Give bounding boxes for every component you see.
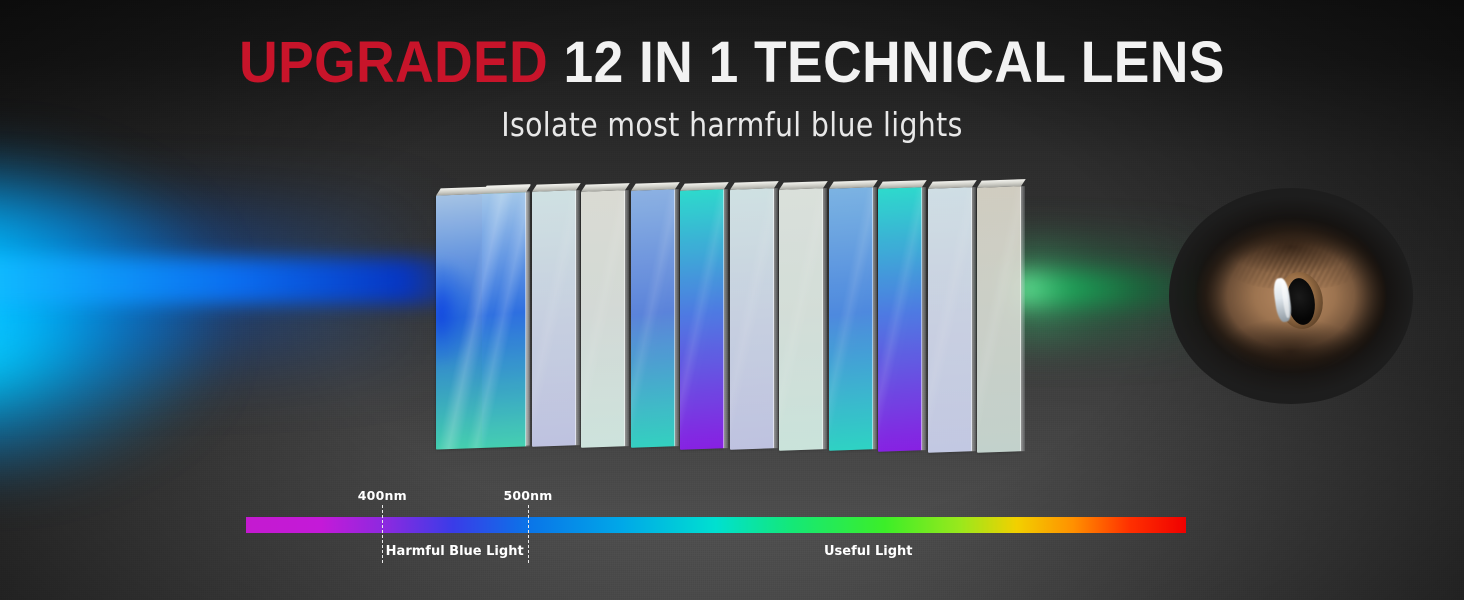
lens-panel-face [436, 192, 526, 449]
spectrum-zone-label-1: Harmful Blue Light [386, 544, 524, 559]
lens-highlight-streak [581, 190, 625, 448]
lens-panel-top-edge [779, 181, 828, 190]
lens-panel-10 [878, 187, 922, 451]
lens-highlight-streak [829, 188, 873, 451]
lens-panel-right-edge [773, 188, 778, 448]
lens-panel-5 [631, 189, 675, 448]
lens-panel-6 [680, 189, 724, 449]
lens-panel-8 [779, 188, 823, 450]
headline-emphasis: UPGRADED [239, 30, 548, 95]
spectrum-gradient-bar [246, 517, 1186, 533]
lens-highlight-streak [928, 187, 972, 453]
lens-panel-face [878, 187, 922, 451]
spectrum-tick-2 [528, 505, 529, 563]
page-title: UPGRADED 12 IN 1 TECHNICAL LENS [59, 34, 1406, 92]
lens-panel-right-edge [872, 187, 877, 449]
lens-highlight-streak [680, 189, 724, 449]
spectrum-tick-1 [382, 505, 383, 563]
headline-block: UPGRADED 12 IN 1 TECHNICAL LENS Isolate … [0, 34, 1464, 142]
headline-rest: 12 IN 1 TECHNICAL LENS [563, 30, 1224, 95]
lens-panel-right-edge [822, 188, 827, 449]
lens-panel-right-edge [624, 190, 629, 446]
lens-panel-right-edge [674, 189, 679, 447]
lens-transmitted-glow [436, 260, 472, 363]
lens-panel-right-edge [921, 187, 926, 450]
lens-panel-4 [581, 190, 625, 448]
lens-panel-face [928, 187, 972, 453]
lens-panel-face [779, 188, 823, 450]
lens-panel-top-edge [581, 183, 630, 192]
lens-panel-top-edge [928, 180, 977, 189]
lens-panel-12 [977, 186, 1021, 453]
lens-panel-right-edge [723, 189, 728, 448]
lens-highlight-streak [977, 186, 1021, 453]
lens-highlight-streak [779, 188, 823, 450]
light-spectrum-chart: 400nm500nmHarmful Blue LightUseful Light [246, 488, 1186, 588]
lens-highlight-streak [532, 190, 576, 447]
lens-highlight-streak [878, 187, 922, 451]
lens-panel-top-edge [680, 182, 729, 191]
lens-highlight-streak [730, 189, 774, 450]
lens-highlight-streak [631, 189, 675, 448]
lens-panel-face [532, 190, 576, 447]
lens-panel-right-edge [1020, 186, 1025, 451]
lens-panel-face [581, 190, 625, 448]
lens-panel-11 [928, 187, 972, 453]
lens-panel-face [680, 189, 724, 449]
subtitle: Isolate most harmful blue lights [102, 108, 1361, 142]
lens-panel-7 [730, 189, 774, 450]
lens-panel-face [829, 188, 873, 451]
lens-panel-3 [532, 190, 576, 447]
spectrum-zone-label-2: Useful Light [824, 544, 913, 559]
human-eye [1196, 212, 1386, 380]
spectrum-tick-label-2: 500nm [503, 488, 552, 503]
infographic-banner: UPGRADED 12 IN 1 TECHNICAL LENS Isolate … [0, 0, 1464, 600]
lens-panel-face [631, 189, 675, 448]
lens-panel-face [977, 186, 1021, 453]
lens-panel-right-edge [525, 192, 530, 446]
lens-panel-right-edge [971, 187, 976, 451]
spectrum-tick-label-1: 400nm [358, 488, 407, 503]
lens-panel-face [730, 189, 774, 450]
lens-panel-9 [829, 188, 873, 451]
lens-panel-1 [436, 192, 526, 449]
lens-panel-right-edge [575, 190, 580, 445]
